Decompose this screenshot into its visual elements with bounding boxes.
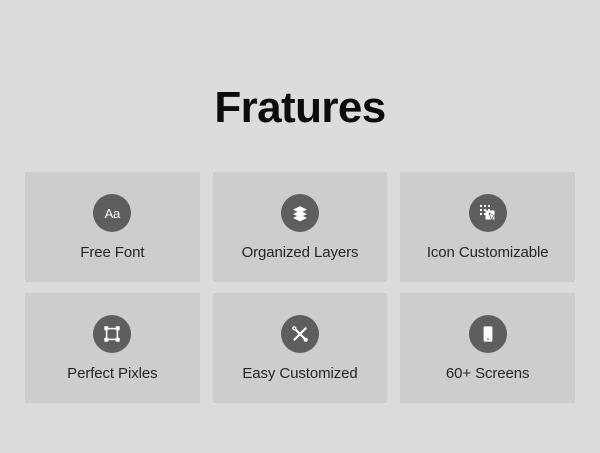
- feature-label: Perfect Pixles: [67, 366, 157, 381]
- crossed-tools-icon: [281, 315, 319, 353]
- aa-glyph-text: Aa: [105, 207, 121, 220]
- feature-label: 60+ Screens: [446, 366, 530, 381]
- feature-card-icon-customizable[interactable]: Icon Customizable: [400, 172, 575, 282]
- page-title: Fratures: [0, 86, 600, 130]
- feature-card-easy-customized[interactable]: Easy Customized: [213, 293, 388, 403]
- feature-card-free-font[interactable]: Aa Free Font: [25, 172, 200, 282]
- bounding-box-handles-icon: [93, 315, 131, 353]
- layers-stack-icon: [281, 194, 319, 232]
- features-page: Fratures Aa Free Font Organized Layers: [0, 0, 600, 453]
- feature-label: Icon Customizable: [427, 245, 549, 260]
- mobile-screen-icon: [469, 315, 507, 353]
- icon-selection-cursor-icon: [469, 194, 507, 232]
- feature-card-perfect-pixles[interactable]: Perfect Pixles: [25, 293, 200, 403]
- feature-label: Easy Customized: [242, 366, 357, 381]
- features-grid: Aa Free Font Organized Layers: [25, 172, 575, 403]
- feature-label: Organized Layers: [242, 245, 359, 260]
- aa-text-icon: Aa: [93, 194, 131, 232]
- feature-label: Free Font: [80, 245, 144, 260]
- feature-card-organized-layers[interactable]: Organized Layers: [213, 172, 388, 282]
- feature-card-screens[interactable]: 60+ Screens: [400, 293, 575, 403]
